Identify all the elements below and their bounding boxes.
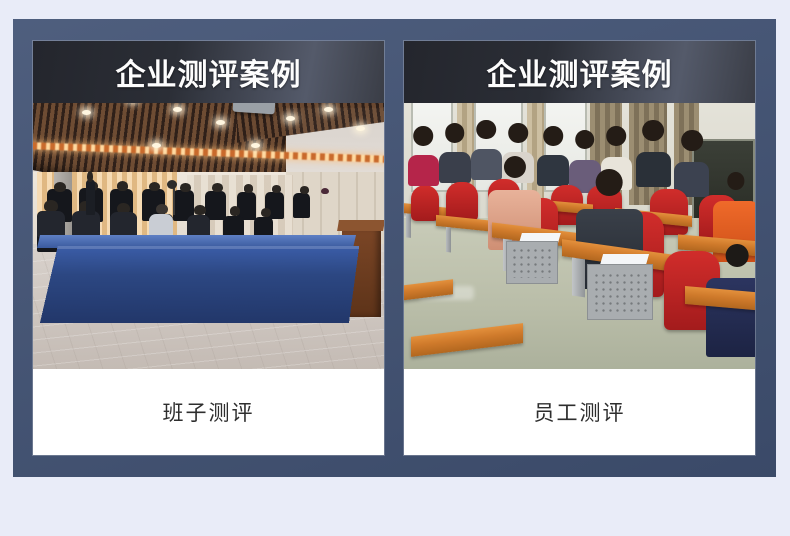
cards-frame: 企业测评案例 班子测评 <box>13 19 776 477</box>
card-title-right: 企业测评案例 <box>487 50 673 94</box>
card-title-bar-right: 企业测评案例 <box>404 41 755 103</box>
card-title-bar-left: 企业测评案例 <box>33 41 384 103</box>
card-media-right: 企业测评案例 <box>404 41 755 369</box>
card-caption-left: 班子测评 <box>33 369 384 455</box>
card-title-left: 企业测评案例 <box>116 50 302 94</box>
card-media-left: 企业测评案例 <box>33 41 384 369</box>
card-caption-right: 员工测评 <box>404 369 755 455</box>
card-caption-text-left: 班子测评 <box>163 397 255 427</box>
page-root: 企业测评案例 班子测评 <box>0 0 790 536</box>
case-card-staff-assessment[interactable]: 企业测评案例 员工测评 <box>404 41 755 455</box>
case-card-board-assessment[interactable]: 企业测评案例 班子测评 <box>33 41 384 455</box>
card-caption-text-right: 员工测评 <box>534 397 626 427</box>
